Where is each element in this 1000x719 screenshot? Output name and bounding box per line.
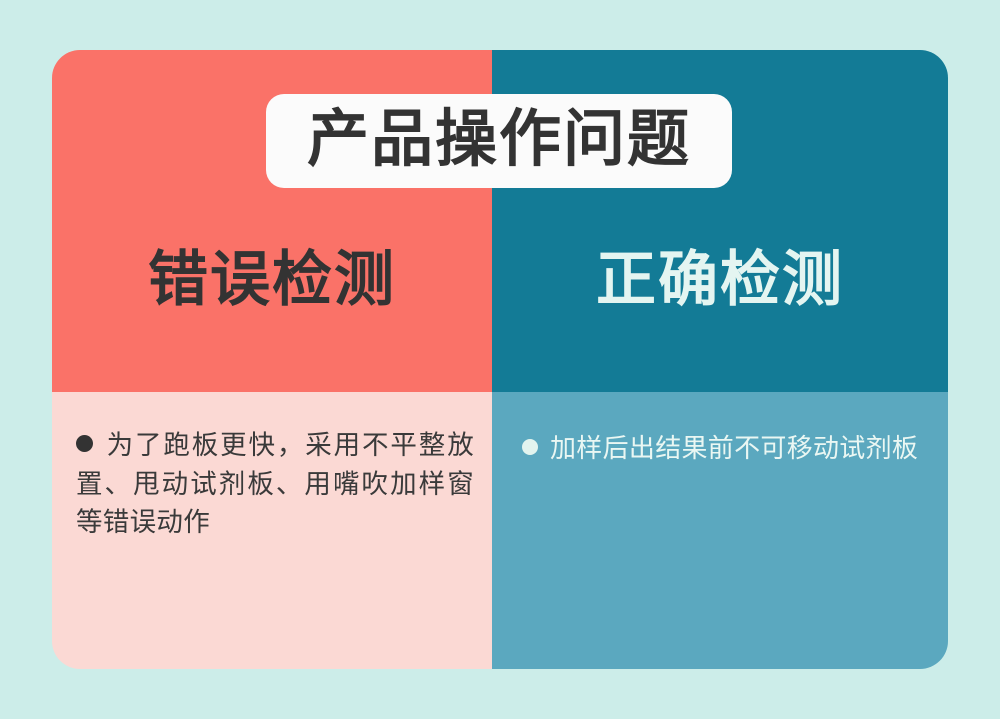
comparison-infographic: 错误检测 正确检测 为了跑板更快，采用不平整放置、甩动试剂板、用嘴吹加样窗等错误…: [0, 0, 1000, 719]
wrong-column-bullet-item: 为了跑板更快，采用不平整放置、甩动试剂板、用嘴吹加样窗等错误动作: [76, 426, 474, 542]
correct-column-bullet-item: 加样后出结果前不可移动试剂板: [522, 430, 928, 468]
title-badge: 产品操作问题: [266, 94, 732, 188]
correct-column-body-panel: 加样后出结果前不可移动试剂板: [492, 392, 948, 669]
wrong-column-body-text: 为了跑板更快，采用不平整放置、甩动试剂板、用嘴吹加样窗等错误动作: [76, 430, 474, 537]
wrong-column-body-panel: 为了跑板更快，采用不平整放置、甩动试剂板、用嘴吹加样窗等错误动作: [52, 392, 492, 669]
correct-column-heading: 正确检测: [492, 248, 948, 311]
wrong-column-heading: 错误检测: [52, 248, 492, 311]
correct-column-body-text: 加样后出结果前不可移动试剂板: [550, 433, 918, 463]
filled-circle-bullet-icon: [522, 439, 538, 455]
filled-circle-bullet-icon: [76, 435, 93, 452]
page-title: 产品操作问题: [307, 109, 691, 171]
